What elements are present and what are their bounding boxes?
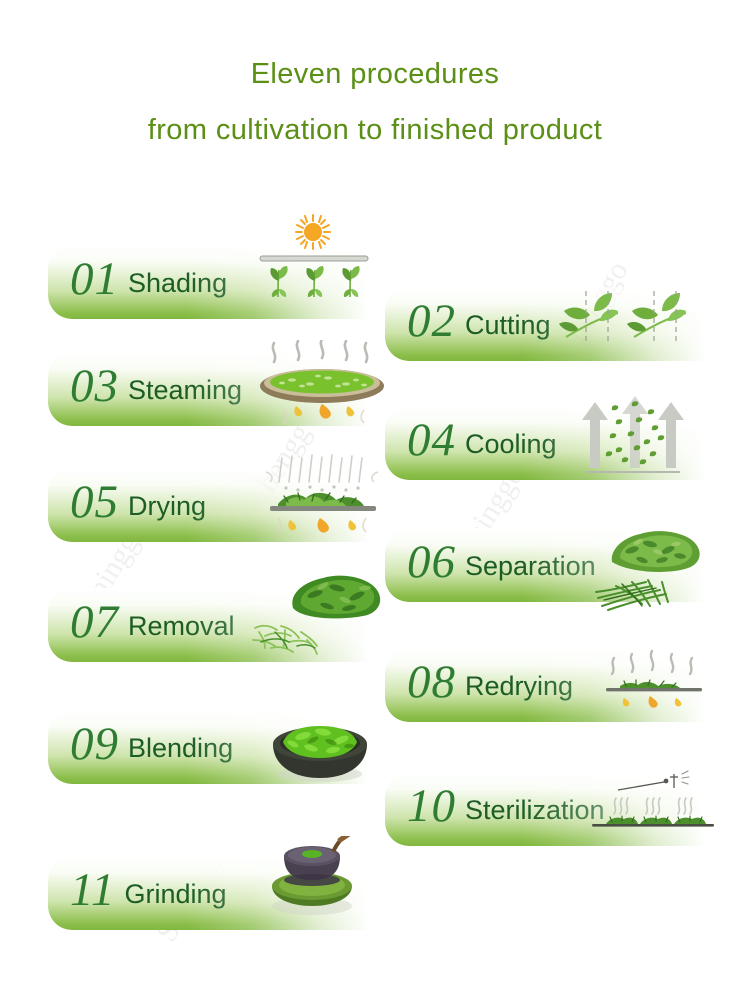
step-label: Separation bbox=[456, 553, 596, 580]
step-label: Cooling bbox=[456, 431, 557, 458]
step-row-08[interactable]: 08 Redrying bbox=[385, 648, 715, 722]
step-label: Shading bbox=[119, 270, 227, 297]
step-number: 04 bbox=[385, 417, 456, 464]
step-number: 09 bbox=[48, 721, 119, 768]
step-number: 03 bbox=[48, 363, 119, 410]
step-label: Sterilization bbox=[456, 797, 605, 824]
step-label: Grinding bbox=[116, 881, 227, 908]
step-row-11[interactable]: 11 Grinding bbox=[48, 856, 378, 930]
step-number: 01 bbox=[48, 256, 119, 303]
step-label: Redrying bbox=[456, 673, 573, 700]
step-row-10[interactable]: 10 Sterilization bbox=[385, 772, 715, 846]
step-row-05[interactable]: 05 Drying bbox=[48, 468, 378, 542]
step-number: 11 bbox=[48, 867, 116, 914]
step-row-04[interactable]: 04 Cooling bbox=[385, 406, 715, 480]
step-row-01[interactable]: 01 Shading bbox=[48, 245, 378, 319]
step-number: 06 bbox=[385, 539, 456, 586]
page-title: Eleven procedures from cultivation to fi… bbox=[0, 0, 750, 147]
step-number: 08 bbox=[385, 659, 456, 706]
step-row-09[interactable]: 09 Blending bbox=[48, 710, 378, 784]
step-label: Drying bbox=[119, 493, 206, 520]
title-line-1: Eleven procedures bbox=[0, 57, 750, 91]
step-label: Steaming bbox=[119, 377, 242, 404]
title-line-2: from cultivation to finished product bbox=[0, 113, 750, 147]
step-row-07[interactable]: 07 Removal bbox=[48, 588, 378, 662]
step-label: Cutting bbox=[456, 312, 551, 339]
step-label: Removal bbox=[119, 613, 235, 640]
step-row-02[interactable]: 02 Cutting bbox=[385, 287, 715, 361]
step-label: Blending bbox=[119, 735, 233, 762]
infographic-canvas: Shininggo shininggo hengg Shining henggo… bbox=[0, 0, 750, 996]
step-number: 02 bbox=[385, 298, 456, 345]
step-row-06[interactable]: 06 Separation bbox=[385, 528, 715, 602]
step-number: 05 bbox=[48, 479, 119, 526]
step-number: 10 bbox=[385, 783, 456, 830]
step-number: 07 bbox=[48, 599, 119, 646]
step-row-03[interactable]: 03 Steaming bbox=[48, 352, 378, 426]
